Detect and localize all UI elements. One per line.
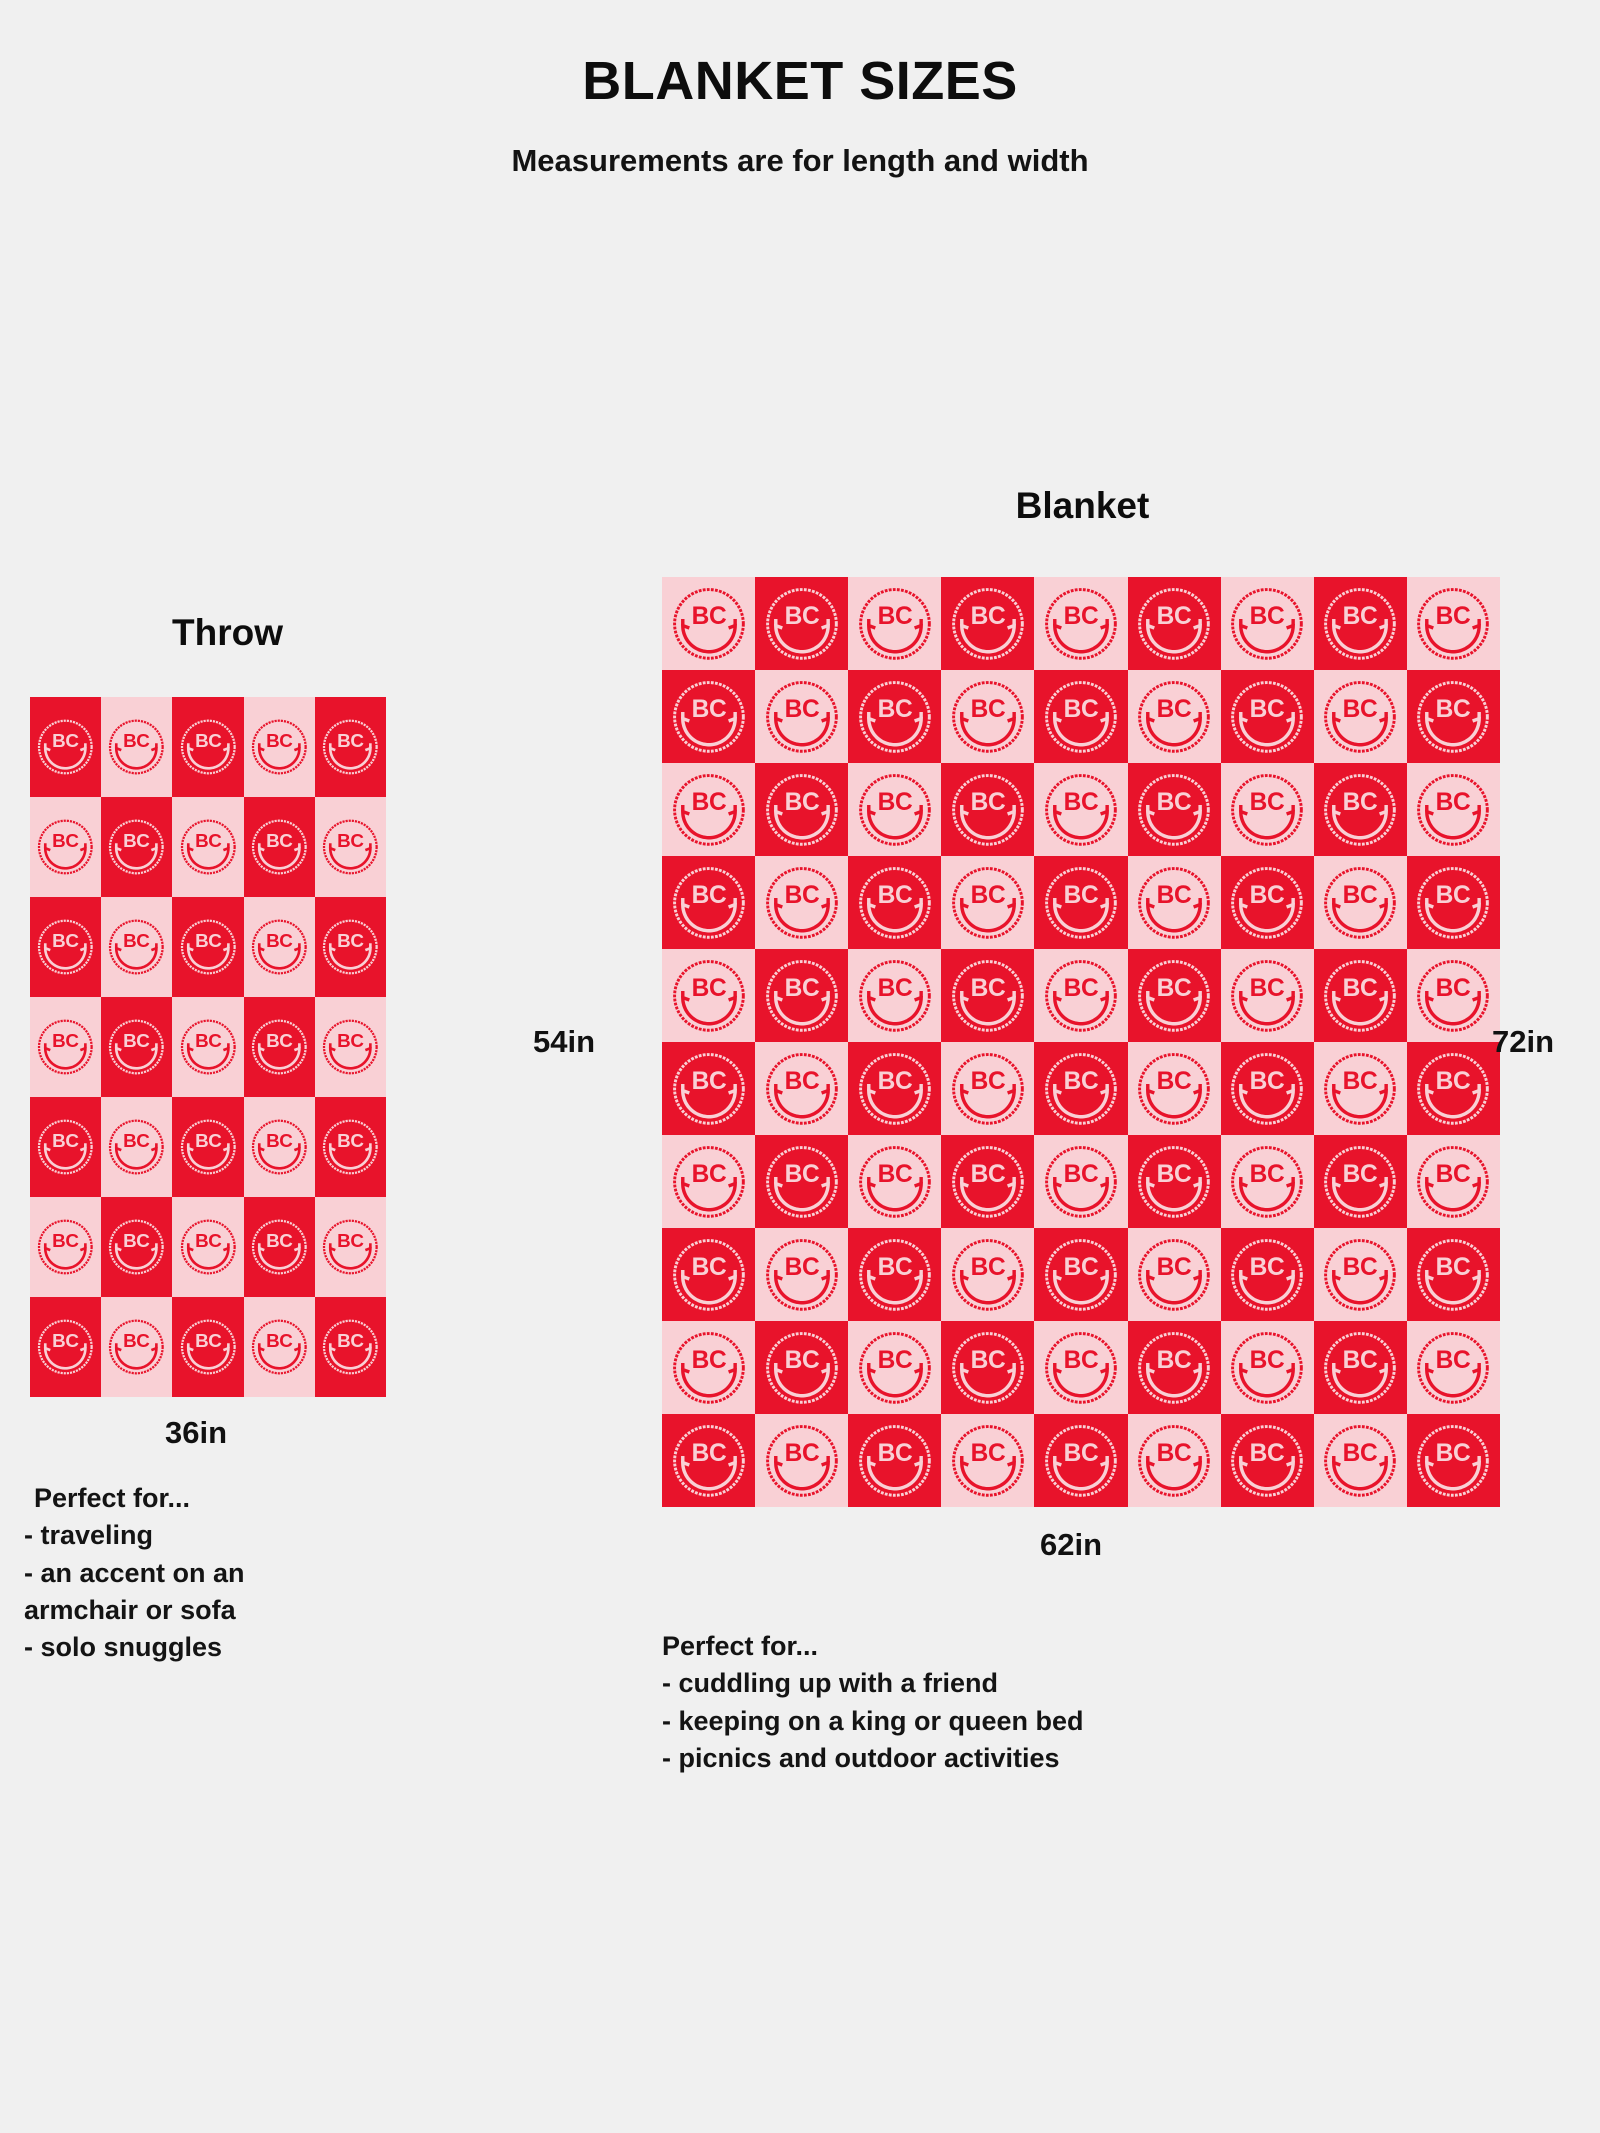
bc-monogram: BC: [1250, 1346, 1285, 1373]
bc-monogram: BC: [877, 974, 912, 1001]
blanket-cell: BC: [315, 1097, 386, 1197]
notes-item: armchair or sofa: [24, 1592, 384, 1629]
bc-monogram: BC: [784, 1439, 819, 1466]
smiley-bc-icon: BC: [1319, 769, 1401, 851]
blanket-cell: BC: [1034, 763, 1127, 856]
smiley-bc-icon: BC: [668, 1234, 750, 1316]
blanket-cell: BC: [1034, 1135, 1127, 1228]
smiley-bc-icon: BC: [105, 803, 168, 891]
smiley-bc-icon: BC: [319, 903, 382, 991]
throw-blanket-swatch: BCBCBCBCBCBCBCBCBCBCBCBCBCBCBCBCBCBCBCBC…: [30, 697, 386, 1397]
bc-monogram: BC: [124, 830, 151, 851]
bc-monogram: BC: [266, 930, 293, 951]
blanket-cell: BC: [244, 897, 315, 997]
blanket-cell: BC: [315, 997, 386, 1097]
blanket-cell: BC: [941, 1414, 1034, 1507]
blanket-cell: BC: [941, 670, 1034, 763]
bc-monogram: BC: [1250, 1160, 1285, 1187]
blanket-cell: BC: [941, 1135, 1034, 1228]
smiley-bc-icon: BC: [1319, 1327, 1401, 1409]
blanket-heading: Blanket: [975, 485, 1190, 527]
bc-monogram: BC: [1250, 602, 1285, 629]
smiley-bc-icon: BC: [1226, 676, 1308, 758]
bc-monogram: BC: [52, 1130, 79, 1151]
bc-monogram: BC: [1343, 974, 1378, 1001]
smiley-bc-icon: BC: [319, 703, 382, 791]
notes-item: - cuddling up with a friend: [662, 1665, 1282, 1702]
bc-monogram: BC: [1064, 602, 1099, 629]
smiley-bc-icon: BC: [854, 769, 936, 851]
blanket-cell: BC: [1314, 1321, 1407, 1414]
smiley-bc-icon: BC: [248, 1203, 311, 1291]
blanket-cell: BC: [1128, 1321, 1221, 1414]
blanket-cell: BC: [172, 897, 243, 997]
bc-monogram: BC: [195, 1230, 222, 1251]
smiley-bc-icon: BC: [1412, 1234, 1494, 1316]
smiley-bc-icon: BC: [1226, 1327, 1308, 1409]
bc-monogram: BC: [1343, 1067, 1378, 1094]
bc-monogram: BC: [1064, 788, 1099, 815]
blanket-cell: BC: [1221, 1321, 1314, 1414]
blanket-cell: BC: [30, 897, 101, 997]
smiley-bc-icon: BC: [177, 1203, 240, 1291]
blanket-cell: BC: [755, 1321, 848, 1414]
blanket-cell: BC: [1128, 1228, 1221, 1321]
smiley-bc-icon: BC: [248, 1303, 311, 1391]
bc-monogram: BC: [337, 1030, 364, 1051]
blanket-cell: BC: [315, 797, 386, 897]
smiley-bc-icon: BC: [1133, 1048, 1215, 1130]
blanket-cell: BC: [755, 1414, 848, 1507]
smiley-bc-icon: BC: [1040, 1420, 1122, 1502]
notes-lead: Perfect for...: [24, 1480, 384, 1517]
smiley-bc-icon: BC: [668, 769, 750, 851]
smiley-bc-icon: BC: [105, 703, 168, 791]
bc-monogram: BC: [337, 730, 364, 751]
blanket-cell: BC: [1034, 670, 1127, 763]
blanket-cell: BC: [1407, 763, 1500, 856]
bc-monogram: BC: [691, 1346, 726, 1373]
blanket-cell: BC: [662, 670, 755, 763]
bc-monogram: BC: [1343, 695, 1378, 722]
notes-item: - picnics and outdoor activities: [662, 1740, 1282, 1777]
blanket-size-guide: BLANKET SIZES Measurements are for lengt…: [0, 0, 1600, 2133]
blanket-cell: BC: [172, 1197, 243, 1297]
bc-monogram: BC: [691, 881, 726, 908]
blanket-cell: BC: [1128, 856, 1221, 949]
smiley-bc-icon: BC: [668, 862, 750, 944]
smiley-bc-icon: BC: [1040, 676, 1122, 758]
bc-monogram: BC: [784, 1346, 819, 1373]
bc-monogram: BC: [1343, 881, 1378, 908]
blanket-cell: BC: [1314, 1135, 1407, 1228]
bc-monogram: BC: [971, 695, 1006, 722]
smiley-bc-icon: BC: [854, 676, 936, 758]
notes-item: - traveling: [24, 1517, 384, 1554]
smiley-bc-icon: BC: [1133, 769, 1215, 851]
bc-monogram: BC: [1250, 881, 1285, 908]
smiley-bc-icon: BC: [854, 1141, 936, 1223]
bc-monogram: BC: [1436, 1160, 1471, 1187]
bc-monogram: BC: [1436, 602, 1471, 629]
bc-monogram: BC: [195, 830, 222, 851]
bc-monogram: BC: [124, 1230, 151, 1251]
smiley-bc-icon: BC: [105, 1303, 168, 1391]
smiley-bc-icon: BC: [319, 1003, 382, 1091]
smiley-bc-icon: BC: [1319, 955, 1401, 1037]
smiley-bc-icon: BC: [761, 955, 843, 1037]
bc-monogram: BC: [52, 830, 79, 851]
smiley-bc-icon: BC: [947, 955, 1029, 1037]
smiley-bc-icon: BC: [1319, 1420, 1401, 1502]
bc-monogram: BC: [971, 788, 1006, 815]
bc-monogram: BC: [1250, 788, 1285, 815]
smiley-bc-icon: BC: [319, 803, 382, 891]
blanket-cell: BC: [1221, 1042, 1314, 1135]
blanket-cell: BC: [662, 1414, 755, 1507]
bc-monogram: BC: [1064, 1067, 1099, 1094]
blanket-cell: BC: [30, 1097, 101, 1197]
blanket-cell: BC: [1221, 1135, 1314, 1228]
smiley-bc-icon: BC: [1319, 1048, 1401, 1130]
bc-monogram: BC: [1157, 1253, 1192, 1280]
bc-monogram: BC: [124, 1330, 151, 1351]
blanket-cell: BC: [172, 697, 243, 797]
smiley-bc-icon: BC: [761, 1420, 843, 1502]
bc-monogram: BC: [1064, 1439, 1099, 1466]
smiley-bc-icon: BC: [854, 862, 936, 944]
smiley-bc-icon: BC: [105, 903, 168, 991]
blanket-cell: BC: [101, 897, 172, 997]
bc-monogram: BC: [1250, 974, 1285, 1001]
blanket-notes: Perfect for...- cuddling up with a frien…: [662, 1628, 1282, 1777]
blanket-cell: BC: [101, 1097, 172, 1197]
smiley-bc-icon: BC: [1226, 769, 1308, 851]
smiley-bc-icon: BC: [34, 703, 97, 791]
blanket-cell: BC: [244, 697, 315, 797]
page-title: BLANKET SIZES: [0, 50, 1600, 112]
blanket-cell: BC: [315, 1197, 386, 1297]
blanket-cell: BC: [315, 897, 386, 997]
blanket-cell: BC: [755, 763, 848, 856]
smiley-bc-icon: BC: [1040, 583, 1122, 665]
blanket-width-label: 62in: [1040, 1527, 1102, 1563]
smiley-bc-icon: BC: [1040, 862, 1122, 944]
smiley-bc-icon: BC: [1226, 862, 1308, 944]
bc-monogram: BC: [691, 1439, 726, 1466]
blanket-cell: BC: [662, 1228, 755, 1321]
smiley-bc-icon: BC: [105, 1003, 168, 1091]
bc-monogram: BC: [691, 1160, 726, 1187]
blanket-cell: BC: [1034, 1042, 1127, 1135]
blanket-cell: BC: [755, 949, 848, 1042]
smiley-bc-icon: BC: [1412, 1420, 1494, 1502]
smiley-bc-icon: BC: [947, 583, 1029, 665]
smiley-bc-icon: BC: [1412, 955, 1494, 1037]
smiley-bc-icon: BC: [947, 676, 1029, 758]
smiley-bc-icon: BC: [761, 1141, 843, 1223]
smiley-bc-icon: BC: [1133, 1141, 1215, 1223]
bc-monogram: BC: [1157, 1346, 1192, 1373]
smiley-bc-icon: BC: [1040, 1234, 1122, 1316]
smiley-bc-icon: BC: [1133, 583, 1215, 665]
blanket-cell: BC: [941, 763, 1034, 856]
smiley-bc-icon: BC: [1319, 583, 1401, 665]
bc-monogram: BC: [1064, 974, 1099, 1001]
smiley-bc-icon: BC: [105, 1103, 168, 1191]
bc-monogram: BC: [266, 1230, 293, 1251]
smiley-bc-icon: BC: [854, 1048, 936, 1130]
blanket-cell: BC: [662, 1321, 755, 1414]
smiley-bc-icon: BC: [1319, 1234, 1401, 1316]
smiley-bc-icon: BC: [1133, 1327, 1215, 1409]
blanket-cell: BC: [1407, 1135, 1500, 1228]
blanket-cell: BC: [1128, 1135, 1221, 1228]
bc-monogram: BC: [195, 1330, 222, 1351]
blanket-cell: BC: [1314, 1042, 1407, 1135]
bc-monogram: BC: [971, 1160, 1006, 1187]
bc-monogram: BC: [195, 730, 222, 751]
blanket-cell: BC: [662, 949, 755, 1042]
bc-monogram: BC: [1343, 1160, 1378, 1187]
smiley-bc-icon: BC: [1133, 1234, 1215, 1316]
smiley-bc-icon: BC: [1412, 769, 1494, 851]
smiley-bc-icon: BC: [947, 769, 1029, 851]
blanket-swatch: BCBCBCBCBCBCBCBCBCBCBCBCBCBCBCBCBCBCBCBC…: [662, 577, 1500, 1507]
bc-monogram: BC: [52, 1030, 79, 1051]
blanket-cell: BC: [1034, 577, 1127, 670]
bc-monogram: BC: [1436, 974, 1471, 1001]
blanket-cell: BC: [1221, 763, 1314, 856]
blanket-cell: BC: [244, 997, 315, 1097]
bc-monogram: BC: [1157, 788, 1192, 815]
blanket-cell: BC: [755, 1042, 848, 1135]
bc-monogram: BC: [971, 1253, 1006, 1280]
blanket-cell: BC: [172, 1297, 243, 1397]
bc-monogram: BC: [691, 974, 726, 1001]
blanket-cell: BC: [315, 1297, 386, 1397]
blanket-cell: BC: [1034, 949, 1127, 1042]
blanket-cell: BC: [848, 763, 941, 856]
blanket-cell: BC: [941, 1042, 1034, 1135]
blanket-cell: BC: [1034, 1228, 1127, 1321]
bc-monogram: BC: [877, 788, 912, 815]
smiley-bc-icon: BC: [1133, 862, 1215, 944]
blanket-cell: BC: [1221, 1228, 1314, 1321]
blanket-cell: BC: [848, 856, 941, 949]
blanket-cell: BC: [101, 697, 172, 797]
blanket-cell: BC: [244, 1097, 315, 1197]
blanket-cell: BC: [1314, 577, 1407, 670]
bc-monogram: BC: [877, 881, 912, 908]
bc-monogram: BC: [124, 1030, 151, 1051]
bc-monogram: BC: [195, 1030, 222, 1051]
smiley-bc-icon: BC: [947, 1234, 1029, 1316]
blanket-cell: BC: [30, 1197, 101, 1297]
smiley-bc-icon: BC: [34, 1103, 97, 1191]
bc-monogram: BC: [266, 830, 293, 851]
bc-monogram: BC: [1436, 1439, 1471, 1466]
blanket-cell: BC: [662, 1135, 755, 1228]
bc-monogram: BC: [691, 1253, 726, 1280]
blanket-cell: BC: [101, 797, 172, 897]
smiley-bc-icon: BC: [34, 903, 97, 991]
smiley-bc-icon: BC: [177, 1303, 240, 1391]
bc-monogram: BC: [1343, 602, 1378, 629]
bc-monogram: BC: [1064, 1253, 1099, 1280]
smiley-bc-icon: BC: [34, 1303, 97, 1391]
smiley-bc-icon: BC: [1040, 1327, 1122, 1409]
blanket-cell: BC: [848, 577, 941, 670]
blanket-cell: BC: [244, 1197, 315, 1297]
blanket-cell: BC: [30, 997, 101, 1097]
bc-monogram: BC: [691, 602, 726, 629]
smiley-bc-icon: BC: [1319, 676, 1401, 758]
bc-monogram: BC: [52, 1230, 79, 1251]
smiley-bc-icon: BC: [668, 1048, 750, 1130]
bc-monogram: BC: [266, 1130, 293, 1151]
bc-monogram: BC: [877, 1346, 912, 1373]
smiley-bc-icon: BC: [248, 903, 311, 991]
bc-monogram: BC: [337, 930, 364, 951]
blanket-cell: BC: [30, 797, 101, 897]
smiley-bc-icon: BC: [761, 769, 843, 851]
smiley-bc-icon: BC: [248, 703, 311, 791]
smiley-bc-icon: BC: [761, 1048, 843, 1130]
blanket-cell: BC: [30, 697, 101, 797]
bc-monogram: BC: [971, 602, 1006, 629]
bc-monogram: BC: [877, 1160, 912, 1187]
bc-monogram: BC: [337, 1330, 364, 1351]
blanket-cell: BC: [1128, 1414, 1221, 1507]
smiley-bc-icon: BC: [1133, 955, 1215, 1037]
bc-monogram: BC: [1064, 695, 1099, 722]
smiley-bc-icon: BC: [854, 583, 936, 665]
blanket-cell: BC: [1128, 670, 1221, 763]
smiley-bc-icon: BC: [761, 583, 843, 665]
blanket-cell: BC: [662, 577, 755, 670]
bc-monogram: BC: [195, 930, 222, 951]
smiley-bc-icon: BC: [319, 1103, 382, 1191]
blanket-cell: BC: [1128, 949, 1221, 1042]
blanket-cell: BC: [1407, 1042, 1500, 1135]
blanket-cell: BC: [848, 1042, 941, 1135]
blanket-cell: BC: [30, 1297, 101, 1397]
blanket-cell: BC: [1407, 670, 1500, 763]
blanket-cell: BC: [101, 997, 172, 1097]
blanket-cell: BC: [244, 797, 315, 897]
smiley-bc-icon: BC: [854, 1420, 936, 1502]
bc-monogram: BC: [877, 695, 912, 722]
smiley-bc-icon: BC: [1412, 1141, 1494, 1223]
bc-monogram: BC: [784, 695, 819, 722]
bc-monogram: BC: [1064, 1346, 1099, 1373]
blanket-cell: BC: [941, 1228, 1034, 1321]
smiley-bc-icon: BC: [1226, 1048, 1308, 1130]
bc-monogram: BC: [1250, 1439, 1285, 1466]
throw-width-label: 36in: [165, 1415, 227, 1451]
smiley-bc-icon: BC: [1319, 1141, 1401, 1223]
bc-monogram: BC: [52, 730, 79, 751]
blanket-cell: BC: [848, 1414, 941, 1507]
smiley-bc-icon: BC: [105, 1203, 168, 1291]
smiley-bc-icon: BC: [854, 1327, 936, 1409]
blanket-cell: BC: [1407, 949, 1500, 1042]
blanket-cell: BC: [1407, 1414, 1500, 1507]
bc-monogram: BC: [1064, 881, 1099, 908]
bc-monogram: BC: [971, 1067, 1006, 1094]
bc-monogram: BC: [266, 1030, 293, 1051]
blanket-cell: BC: [755, 670, 848, 763]
bc-monogram: BC: [124, 1130, 151, 1151]
blanket-cell: BC: [755, 577, 848, 670]
smiley-bc-icon: BC: [177, 803, 240, 891]
smiley-bc-icon: BC: [1412, 1327, 1494, 1409]
smiley-bc-icon: BC: [1226, 1234, 1308, 1316]
blanket-cell: BC: [755, 1228, 848, 1321]
bc-monogram: BC: [1436, 695, 1471, 722]
blanket-cell: BC: [848, 1321, 941, 1414]
smiley-bc-icon: BC: [1226, 1141, 1308, 1223]
bc-monogram: BC: [1250, 1253, 1285, 1280]
bc-monogram: BC: [1064, 1160, 1099, 1187]
bc-monogram: BC: [971, 881, 1006, 908]
throw-heading: Throw: [140, 612, 315, 654]
bc-monogram: BC: [1157, 695, 1192, 722]
smiley-bc-icon: BC: [34, 1003, 97, 1091]
blanket-cell: BC: [662, 1042, 755, 1135]
blanket-cell: BC: [1128, 1042, 1221, 1135]
smiley-bc-icon: BC: [668, 955, 750, 1037]
bc-monogram: BC: [124, 930, 151, 951]
blanket-cell: BC: [1034, 1414, 1127, 1507]
smiley-bc-icon: BC: [248, 803, 311, 891]
notes-lead: Perfect for...: [662, 1628, 1282, 1665]
blanket-cell: BC: [848, 949, 941, 1042]
smiley-bc-icon: BC: [319, 1303, 382, 1391]
throw-height-label: 54in: [533, 1024, 595, 1060]
smiley-bc-icon: BC: [177, 1103, 240, 1191]
throw-notes: Perfect for...- traveling- an accent on …: [24, 1480, 384, 1666]
blanket-cell: BC: [941, 1321, 1034, 1414]
blanket-height-label: 72in: [1492, 1024, 1554, 1060]
blanket-cell: BC: [172, 1097, 243, 1197]
smiley-bc-icon: BC: [947, 1327, 1029, 1409]
smiley-bc-icon: BC: [761, 1234, 843, 1316]
blanket-cell: BC: [101, 1197, 172, 1297]
smiley-bc-icon: BC: [1412, 583, 1494, 665]
bc-monogram: BC: [784, 974, 819, 1001]
bc-monogram: BC: [877, 1439, 912, 1466]
bc-monogram: BC: [1157, 1067, 1192, 1094]
bc-monogram: BC: [1436, 1346, 1471, 1373]
blanket-cell: BC: [1407, 577, 1500, 670]
smiley-bc-icon: BC: [1226, 583, 1308, 665]
smiley-bc-icon: BC: [1040, 1141, 1122, 1223]
blanket-cell: BC: [848, 1135, 941, 1228]
smiley-bc-icon: BC: [1319, 862, 1401, 944]
blanket-cell: BC: [1314, 763, 1407, 856]
blanket-cell: BC: [172, 797, 243, 897]
blanket-cell: BC: [1221, 577, 1314, 670]
bc-monogram: BC: [1436, 1253, 1471, 1280]
blanket-cell: BC: [848, 670, 941, 763]
smiley-bc-icon: BC: [1226, 955, 1308, 1037]
blanket-cell: BC: [1221, 670, 1314, 763]
smiley-bc-icon: BC: [1412, 862, 1494, 944]
bc-monogram: BC: [195, 1130, 222, 1151]
bc-monogram: BC: [337, 830, 364, 851]
